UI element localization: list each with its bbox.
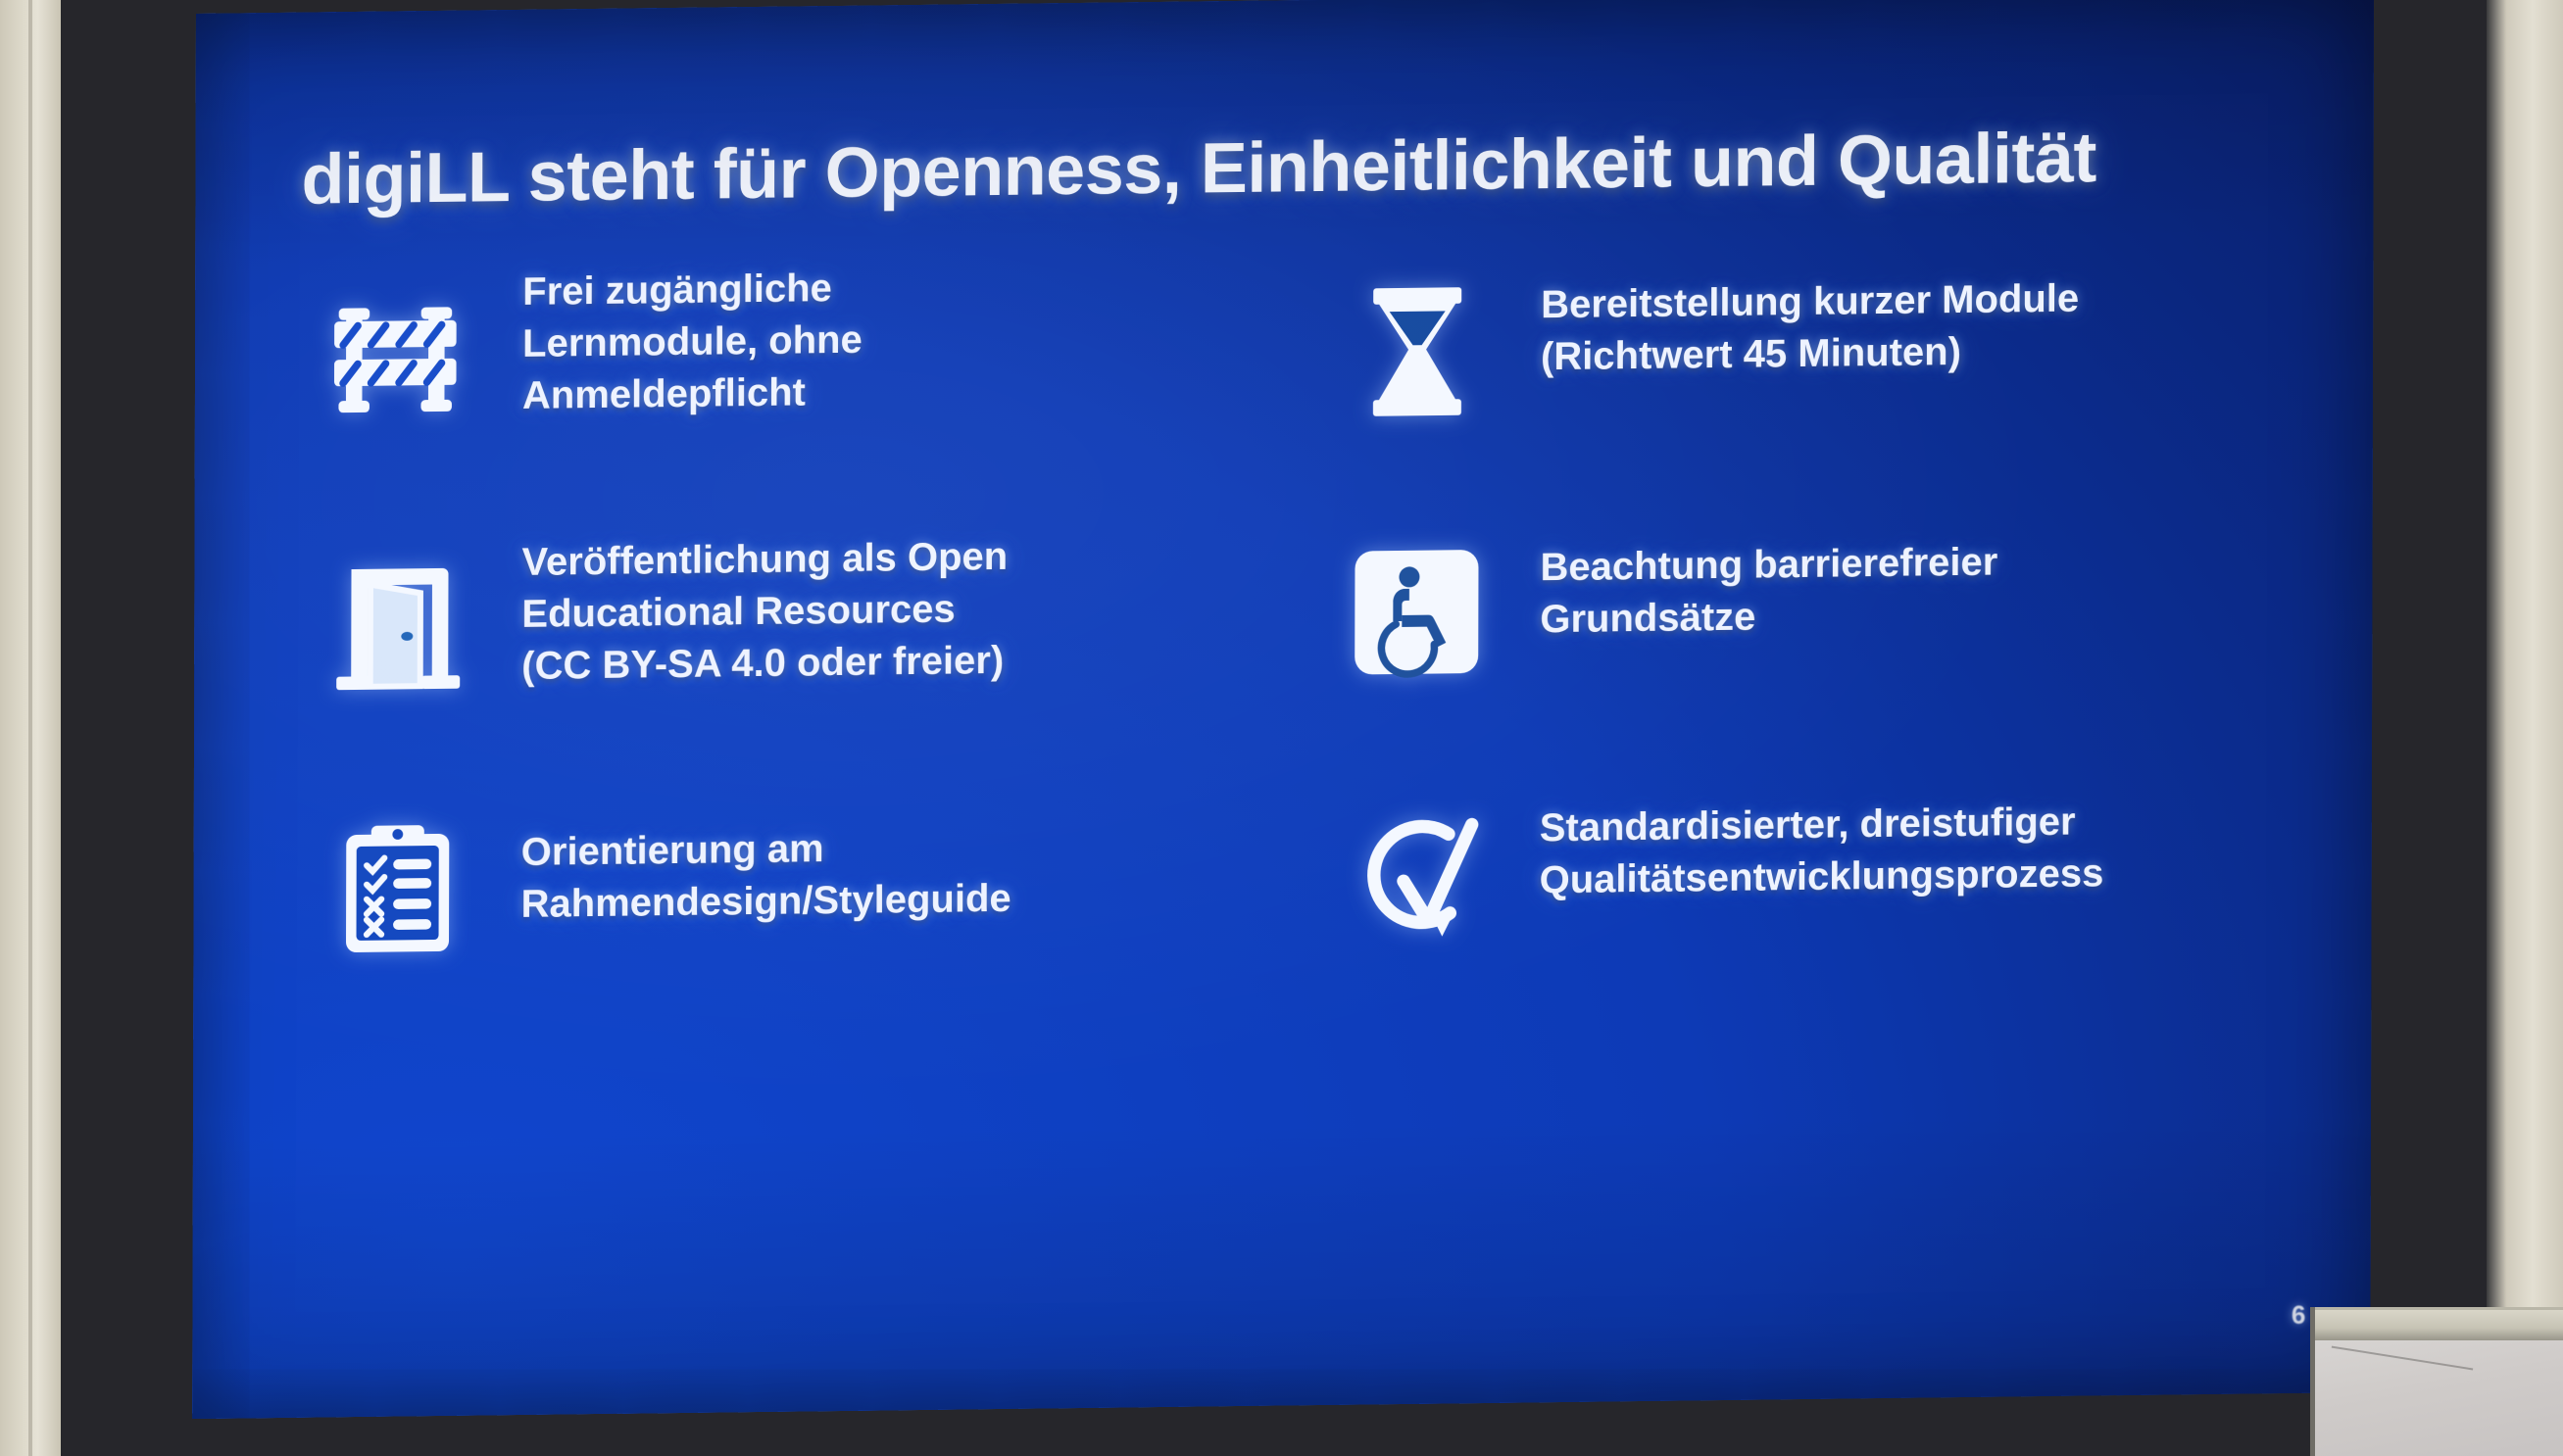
flipchart-clamp xyxy=(2315,1307,2563,1343)
feature-text-line: Standardisierter, dreistufiger xyxy=(1540,796,2104,854)
barrier-icon xyxy=(301,263,498,461)
feature-text: Bereitstellung kurzer Module (Richtwert … xyxy=(1541,244,2079,383)
feature-item-rahmendesign-styleguide: Orientierung am Rahmendesign/Styleguide xyxy=(299,779,1261,1053)
feature-text-line: Bereitstellung kurzer Module xyxy=(1541,273,2079,332)
feature-text-line: Rahmendesign/Styleguide xyxy=(521,873,1011,931)
open-door-icon xyxy=(300,525,497,723)
room-photo-scene: digiLL steht für Openness, Einheitlichke… xyxy=(0,0,2563,1456)
wall-right-strip xyxy=(2487,0,2563,1456)
feature-grid: Frei zugängliche Lernmodule, ohne Anmeld… xyxy=(299,241,2271,1053)
feature-text-line: Educational Resources xyxy=(521,583,1008,641)
feature-text-line: Grundsätze xyxy=(1540,588,1997,646)
feature-item-barrierefreiheit: Beachtung barrierefreier Grundsätze xyxy=(1308,504,2271,778)
feature-text: Beachtung barrierefreier Grundsätze xyxy=(1540,508,1997,646)
feature-text-line: Qualitätsentwicklungsprozess xyxy=(1540,848,2104,906)
feature-text: Frei zugängliche Lernmodule, ohne Anmeld… xyxy=(522,259,863,422)
flipchart-easel xyxy=(2315,1307,2563,1456)
page-title: digiLL steht für Openness, Einheitlichke… xyxy=(301,121,2222,218)
feature-text: Orientierung am Rahmendesign/Styleguide xyxy=(521,782,1011,931)
feature-item-qualitaetsentwicklungsprozess: Standardisierter, dreistufiger Qualitäts… xyxy=(1307,766,2270,1041)
feature-item-veroeffentlichung-oer: Veröffentlichung als Open Educational Re… xyxy=(300,516,1262,791)
feature-text-line: Frei zugängliche xyxy=(522,263,863,318)
feature-text-line: (Richtwert 45 Minuten) xyxy=(1541,324,2079,383)
feature-text-line: Anmeldepflicht xyxy=(522,365,863,421)
feature-text: Standardisierter, dreistufiger Qualitäts… xyxy=(1540,768,2104,906)
feature-text-line: Lernmodule, ohne xyxy=(522,314,863,369)
screen-bezel: digiLL steht für Openness, Einheitlichke… xyxy=(61,0,2487,1456)
clipboard-checklist-icon xyxy=(299,788,496,986)
feature-text: Veröffentlichung als Open Educational Re… xyxy=(521,519,1008,692)
feature-text-line: Orientierung am xyxy=(521,821,1011,879)
feature-text-line: (CC BY-SA 4.0 oder freier) xyxy=(521,634,1008,692)
feature-item-frei-zugaengliche-lernmodule: Frei zugängliche Lernmodule, ohne Anmeld… xyxy=(301,254,1263,528)
hourglass-icon xyxy=(1319,251,1516,449)
cycle-check-icon xyxy=(1317,776,1514,974)
presentation-slide: digiLL steht für Openness, Einheitlichke… xyxy=(192,0,2374,1419)
feature-item-bereitstellung-kurzer-module: Bereitstellung kurzer Module (Richtwert … xyxy=(1309,241,2272,515)
wall-left-strip xyxy=(0,0,61,1456)
feature-text-line: Beachtung barrierefreier xyxy=(1540,537,1997,595)
slide-page-number: 6 xyxy=(2292,1300,2306,1331)
wheelchair-accessibility-icon xyxy=(1318,513,1515,711)
feature-text-line: Veröffentlichung als Open xyxy=(521,531,1008,589)
flipchart-paper xyxy=(2315,1340,2563,1456)
